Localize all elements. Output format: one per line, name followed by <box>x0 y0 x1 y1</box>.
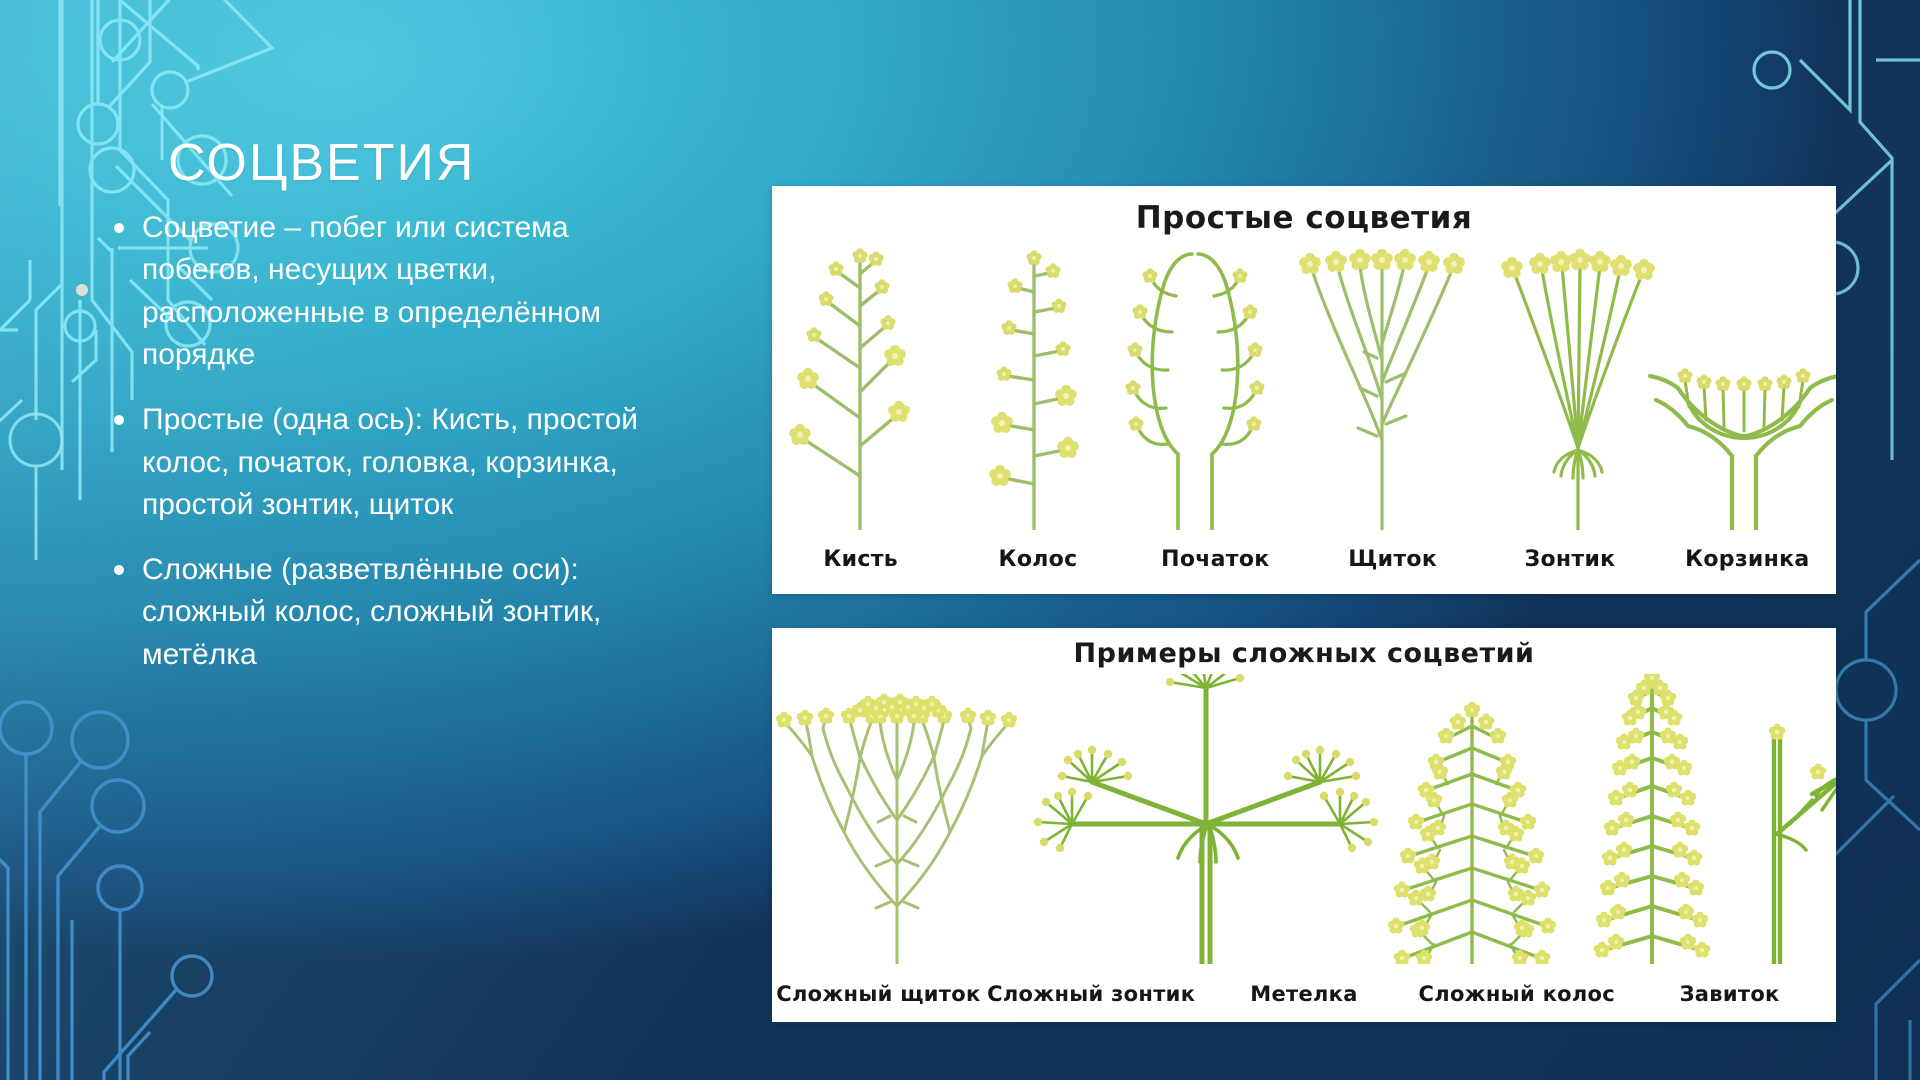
diagram-panel-simple-inflorescences: Простые соцветия <box>772 186 1836 594</box>
label-row-simple: Кисть Колос Початок Щиток Зонтик Корзинк… <box>772 547 1836 572</box>
diagram-panel-complex-inflorescences: Примеры сложных соцветий <box>772 628 1836 1022</box>
figure-label-pochatok: Початок <box>1127 547 1304 572</box>
complex-inflorescence-illustrations <box>772 674 1836 964</box>
text-column: СОЦВЕТИЯ Соцветие – побег или система по… <box>110 136 670 699</box>
figure-label-slozhnyi-schitok: Сложный щиток <box>772 982 985 1006</box>
bullet-text: Простые (одна ось): Кисть, простой колос… <box>142 399 670 527</box>
bullet-item-definition: Соцветие – побег или система побегов, не… <box>110 207 670 377</box>
panel-title: Примеры сложных соцветий <box>772 638 1836 669</box>
panel-title: Простые соцветия <box>772 200 1836 236</box>
circuit-decoration-left-bottom <box>0 660 330 1080</box>
figure-label-zavitok: Завиток <box>1623 982 1836 1006</box>
figure-label-slozhnyi-kolos: Сложный колос <box>1410 982 1623 1006</box>
figure-label-slozhnyi-zontik: Сложный зонтик <box>985 982 1198 1006</box>
figure-label-kolos: Колос <box>949 547 1126 572</box>
label-row-complex: Сложный щиток Сложный зонтик Метелка Сло… <box>772 982 1836 1006</box>
figure-label-schitok: Щиток <box>1304 547 1481 572</box>
slide-canvas: СОЦВЕТИЯ Соцветие – побег или система по… <box>0 0 1920 1080</box>
bullet-item-simple: Простые (одна ось): Кисть, простой колос… <box>110 399 670 527</box>
figure-label-korzinka: Корзинка <box>1659 547 1836 572</box>
bullet-dot-icon <box>114 223 124 233</box>
figure-group-simple <box>772 240 1836 530</box>
figure-group-complex <box>772 674 1836 964</box>
figure-label-metelka: Метелка <box>1198 982 1411 1006</box>
figure-label-zontik: Зонтик <box>1481 547 1658 572</box>
simple-inflorescence-illustrations <box>772 240 1836 530</box>
bullet-text: Сложные (разветвлённые оси): сложный кол… <box>142 549 670 677</box>
figure-label-kist: Кисть <box>772 547 949 572</box>
bullet-dot-icon <box>114 415 124 425</box>
bullet-text: Соцветие – побег или система побегов, не… <box>142 207 670 377</box>
bullet-dot-icon <box>114 565 124 575</box>
page-title: СОЦВЕТИЯ <box>168 136 670 191</box>
bullet-item-complex: Сложные (разветвлённые оси): сложный кол… <box>110 549 670 677</box>
